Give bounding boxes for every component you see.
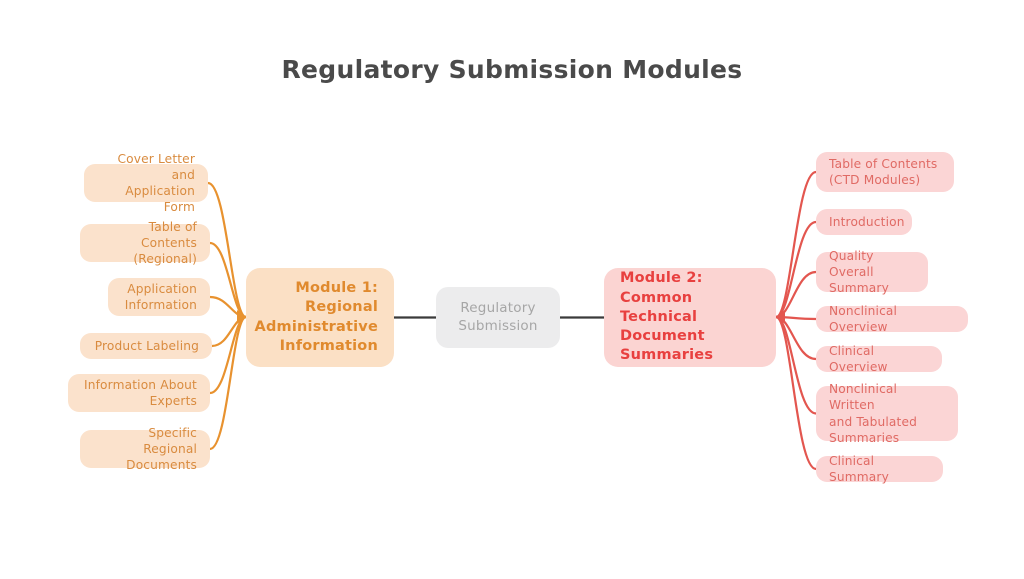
page-title: Regulatory Submission Modules	[0, 55, 1024, 84]
leaf-node[interactable]: Quality Overall Summary	[816, 252, 928, 292]
branch-arrow-icon	[776, 310, 785, 324]
leaf-node-label: Clinical Summary	[829, 453, 930, 485]
branch-edge	[776, 222, 816, 317]
leaf-node-label: Table of Contents (Regional)	[93, 219, 197, 268]
leaf-node[interactable]: Cover Letter and Application Form	[84, 164, 208, 202]
branch-edge	[210, 297, 246, 317]
leaf-node[interactable]: Product Labeling	[80, 333, 212, 359]
branch-edge	[776, 172, 816, 317]
mindmap-canvas: Regulatory Submission Modules Regulatory…	[0, 0, 1024, 579]
leaf-node-label: Nonclinical Written and Tabulated Summar…	[829, 381, 945, 446]
branch-edge	[776, 272, 816, 317]
leaf-node[interactable]: Application Information	[108, 278, 210, 316]
branch-edge	[776, 317, 816, 359]
module-node-label: Module 1: Regional Administrative Inform…	[255, 279, 378, 356]
leaf-node-label: Introduction	[829, 214, 905, 230]
module-node-label: Module 2: Common Technical Document Summ…	[620, 269, 760, 365]
leaf-node-label: Cover Letter and Application Form	[97, 151, 195, 216]
leaf-node-label: Specific Regional Documents	[93, 425, 197, 474]
root-node-regulatory-submission[interactable]: Regulatory Submission	[436, 287, 560, 348]
leaf-node-label: Product Labeling	[95, 338, 199, 354]
branch-edge	[210, 243, 246, 317]
leaf-node[interactable]: Information About Experts	[68, 374, 210, 412]
leaf-node-label: Application Information	[125, 281, 197, 313]
leaf-node[interactable]: Table of Contents (CTD Modules)	[816, 152, 954, 192]
leaf-node[interactable]: Table of Contents (Regional)	[80, 224, 210, 262]
root-node-label: Regulatory Submission	[458, 300, 537, 336]
module-node-module-2[interactable]: Module 2: Common Technical Document Summ…	[604, 268, 776, 367]
branch-edge	[776, 317, 816, 469]
leaf-node[interactable]: Introduction	[816, 209, 912, 235]
branch-edge	[208, 183, 246, 317]
branch-edge	[776, 317, 816, 319]
branch-edge	[210, 317, 246, 449]
leaf-node[interactable]: Specific Regional Documents	[80, 430, 210, 468]
leaf-node-label: Quality Overall Summary	[829, 248, 915, 297]
leaf-node[interactable]: Nonclinical Written and Tabulated Summar…	[816, 386, 958, 441]
leaf-node[interactable]: Nonclinical Overview	[816, 306, 968, 332]
branch-edge	[776, 317, 816, 414]
branch-arrow-icon	[237, 310, 246, 324]
leaf-node-label: Information About Experts	[84, 377, 197, 409]
leaf-node-label: Nonclinical Overview	[829, 303, 955, 335]
leaf-node-label: Table of Contents (CTD Modules)	[829, 156, 937, 188]
branch-edge	[210, 317, 246, 393]
leaf-node-label: Clinical Overview	[829, 343, 929, 375]
leaf-node[interactable]: Clinical Overview	[816, 346, 942, 372]
leaf-node[interactable]: Clinical Summary	[816, 456, 943, 482]
module-node-module-1[interactable]: Module 1: Regional Administrative Inform…	[246, 268, 394, 367]
branch-edge	[212, 317, 246, 346]
